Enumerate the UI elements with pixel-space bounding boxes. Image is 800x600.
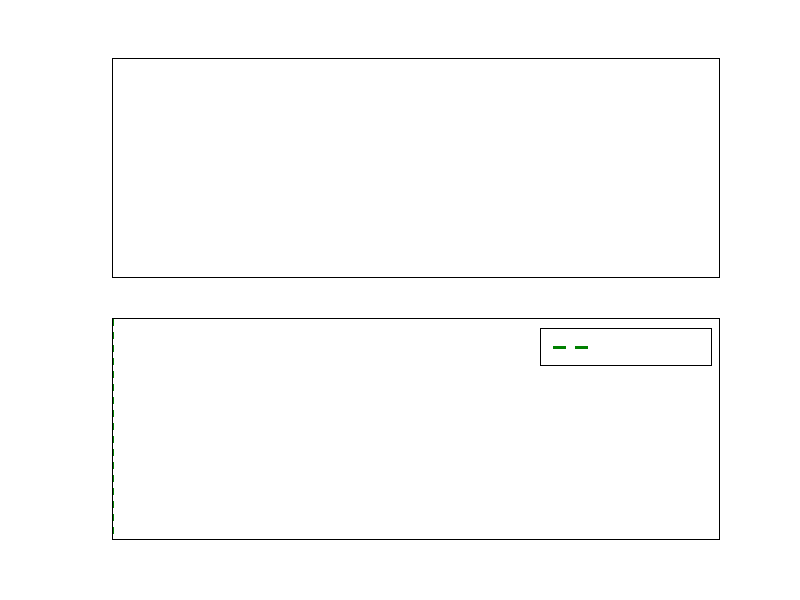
- legend-box[interactable]: [540, 328, 712, 366]
- differential-histogram-axes: [112, 58, 720, 278]
- matplotlib-figure: [0, 0, 800, 600]
- mag-limit-legend-swatch: [553, 346, 595, 349]
- histogram-plot-area: [113, 59, 719, 277]
